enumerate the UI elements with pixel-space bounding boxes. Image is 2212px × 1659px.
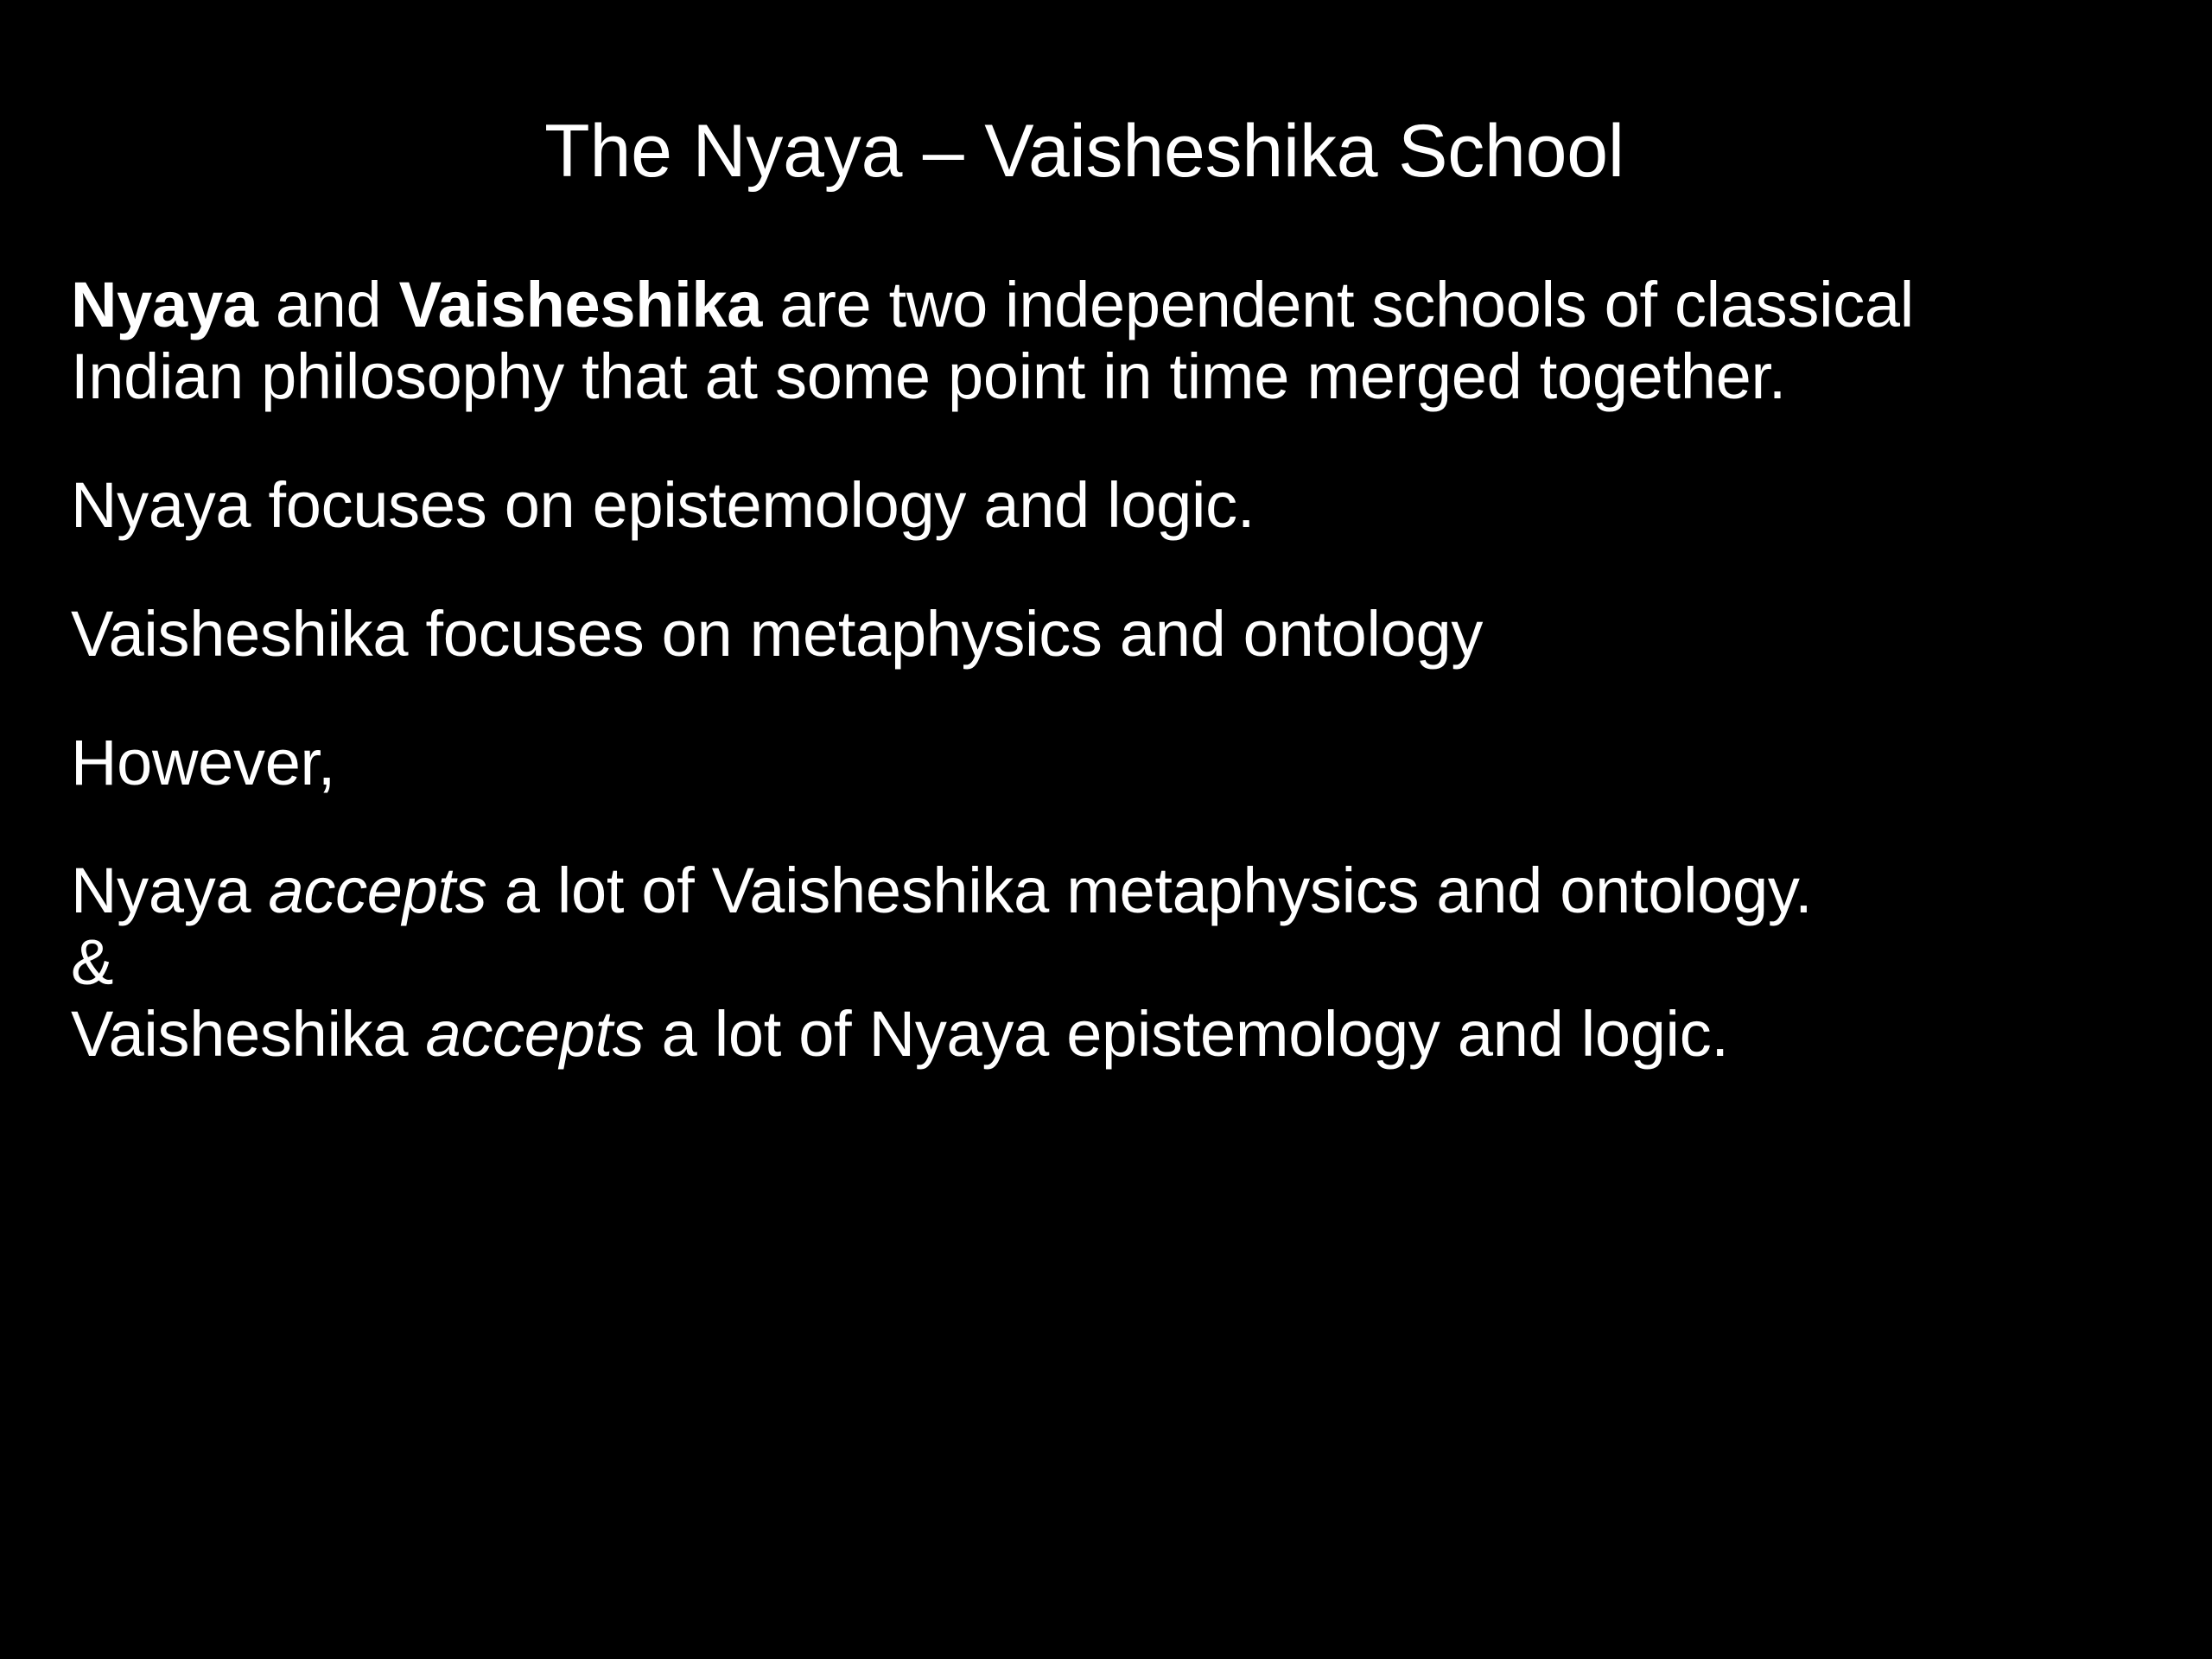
paragraph-gap <box>71 798 2145 855</box>
paragraph-nyaya-focus: Nyaya focuses on epistemology and logic. <box>71 470 2145 542</box>
paragraph-however: However, <box>71 728 2145 799</box>
term-nyaya: Nyaya <box>71 269 258 340</box>
emphasis-accepts: accepts <box>425 998 644 1070</box>
paragraph-gap <box>71 542 2145 599</box>
text-run: Indian philosophy that at some point in … <box>71 340 1786 412</box>
paragraph-line: Indian philosophy that at some point in … <box>71 341 2145 413</box>
text-run: are two independent schools of classical <box>762 269 1914 340</box>
paragraph-line: Nyaya and Vaisheshika are two independen… <box>71 270 2145 341</box>
slide-body: Nyaya and Vaisheshika are two independen… <box>71 270 2145 1071</box>
slide-title: The Nyaya – Vaisheshika School <box>0 111 2169 193</box>
paragraph-gap <box>71 413 2145 470</box>
presentation-slide: The Nyaya – Vaisheshika School Nyaya and… <box>0 0 2212 1659</box>
text-run: However, <box>71 727 335 798</box>
text-run: a lot of Nyaya epistemology and logic. <box>644 998 1728 1070</box>
text-run: Nyaya focuses on epistemology and logic. <box>71 469 1255 541</box>
paragraph-intro: Nyaya and Vaisheshika are two independen… <box>71 270 2145 413</box>
paragraph-mutual-acceptance: Nyaya accepts a lot of Vaisheshika metap… <box>71 855 2145 1071</box>
text-run: Nyaya <box>71 855 269 926</box>
text-run: & <box>71 926 113 998</box>
paragraph-gap <box>71 671 2145 728</box>
text-run: a lot of Vaisheshika metaphysics and ont… <box>486 855 1812 926</box>
paragraph-line: Nyaya accepts a lot of Vaisheshika metap… <box>71 855 2145 927</box>
paragraph-line: Vaisheshika accepts a lot of Nyaya epist… <box>71 999 2145 1071</box>
paragraph-vaisheshika-focus: Vaisheshika focuses on metaphysics and o… <box>71 599 2145 671</box>
text-run: Vaisheshika focuses on metaphysics and o… <box>71 598 1483 670</box>
text-run: and <box>258 269 399 340</box>
emphasis-accepts: accepts <box>269 855 487 926</box>
paragraph-line: However, <box>71 728 2145 799</box>
term-vaisheshika: Vaisheshika <box>399 269 762 340</box>
paragraph-line: Nyaya focuses on epistemology and logic. <box>71 470 2145 542</box>
text-run: Vaisheshika <box>71 998 425 1070</box>
paragraph-line: Vaisheshika focuses on metaphysics and o… <box>71 599 2145 671</box>
ampersand-line: & <box>71 927 2145 999</box>
